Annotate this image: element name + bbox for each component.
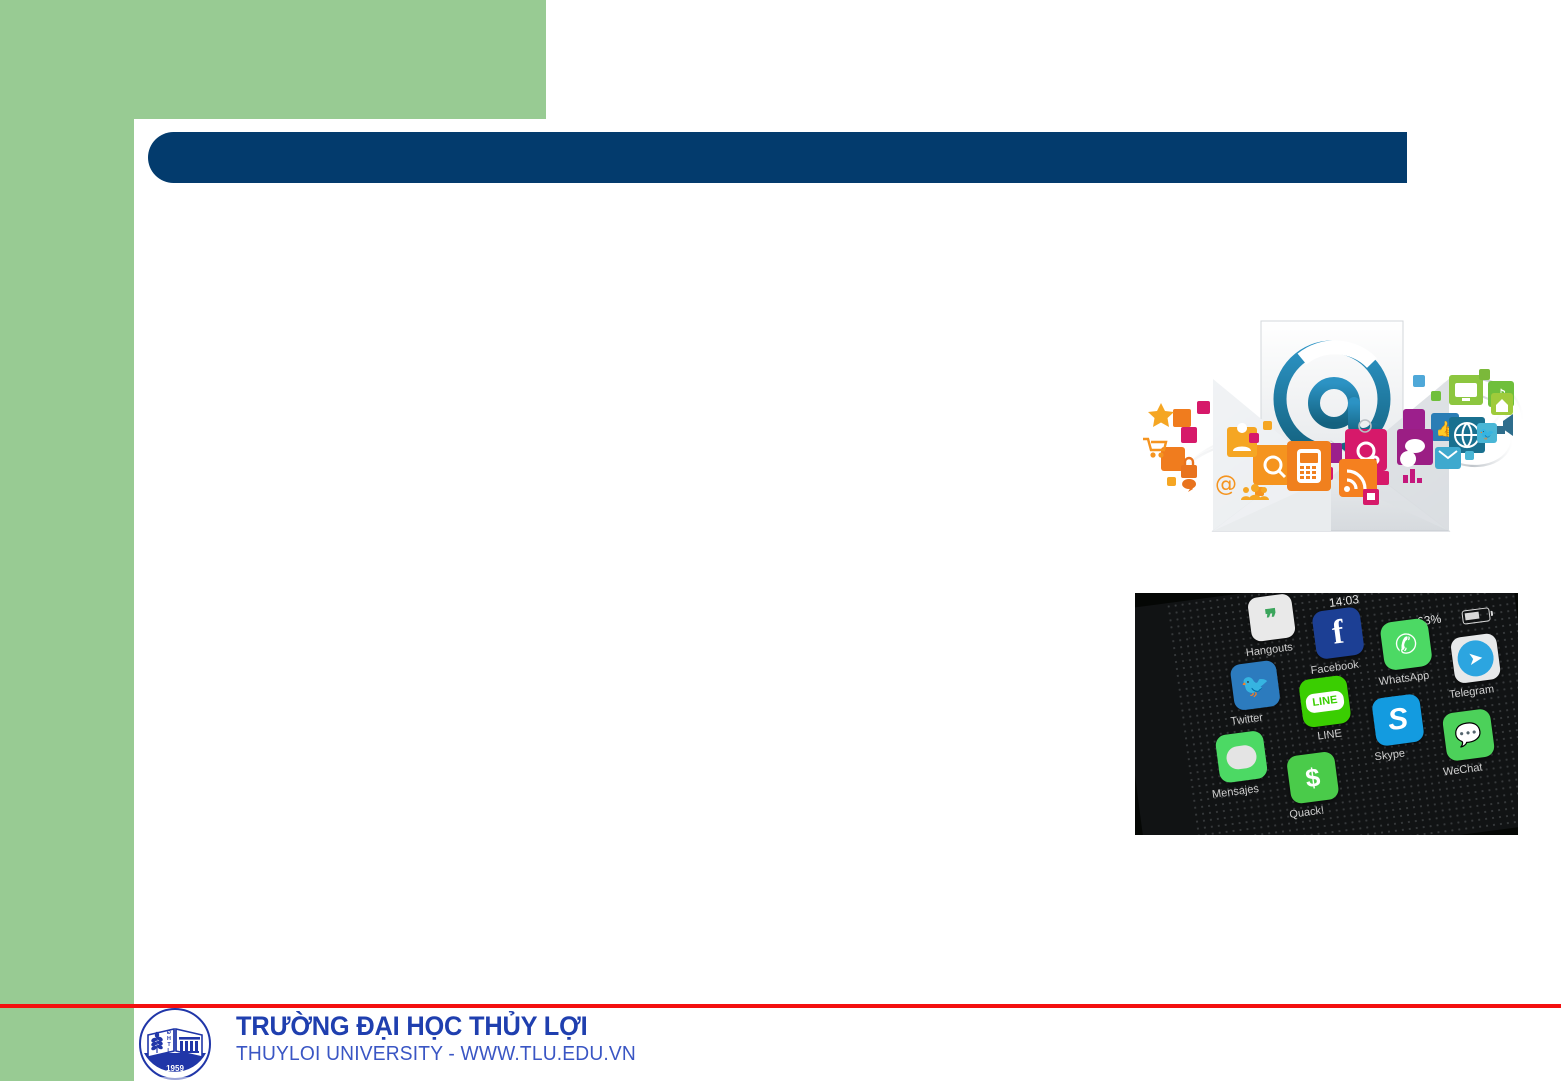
university-names: TRƯỜNG ĐẠI HỌC THỦY LỢI THUYLOI UNIVERSI…: [236, 1011, 653, 1067]
app-icon-telegram[interactable]: ➤: [1450, 633, 1502, 685]
app-icon-twitter[interactable]: 🐦: [1229, 660, 1281, 712]
decor-green-left-strip: [0, 119, 134, 1081]
thuyloi-university-seal: Đ H T L 1959: [138, 1007, 212, 1081]
messaging-apps-phone-photo: 14:03 63% ➤ ❞ Hangouts f Facebook ✆ What…: [1135, 593, 1518, 835]
phone-screen: 14:03 63% ➤ ❞ Hangouts f Facebook ✆ What…: [1135, 593, 1518, 835]
app-icon-hangouts[interactable]: ❞: [1247, 593, 1296, 642]
app-icon-mensajes[interactable]: [1215, 730, 1269, 784]
university-name-en: THUYLOI UNIVERSITY - WWW.TLU.EDU.VN: [236, 1041, 636, 1067]
university-name-vn: TRƯỜNG ĐẠI HỌC THỦY LỢI: [236, 1011, 628, 1041]
slide-bottom-edge: [0, 1077, 1561, 1081]
mobile-phone-icon-main: [1287, 441, 1331, 491]
app-icon-whatsapp[interactable]: ✆: [1379, 617, 1433, 671]
app-icon-line[interactable]: LINE: [1298, 674, 1352, 728]
app-icon-quack[interactable]: $: [1286, 751, 1340, 805]
svg-text:🐦: 🐦: [1480, 427, 1495, 441]
slide-title-bar: [148, 132, 1407, 183]
app-icon-skype[interactable]: S: [1371, 693, 1425, 747]
email-envelope-illustration: ♪ 👍 🐦: [1131, 281, 1531, 561]
slide-body-text: [170, 220, 1100, 960]
app-icon-wechat[interactable]: 💬: [1442, 708, 1496, 762]
seal-year: 1959: [166, 1064, 184, 1073]
svg-text:@: @: [1215, 472, 1237, 497]
decor-green-top-block: [0, 0, 546, 119]
app-icon-facebook[interactable]: f: [1311, 606, 1365, 660]
